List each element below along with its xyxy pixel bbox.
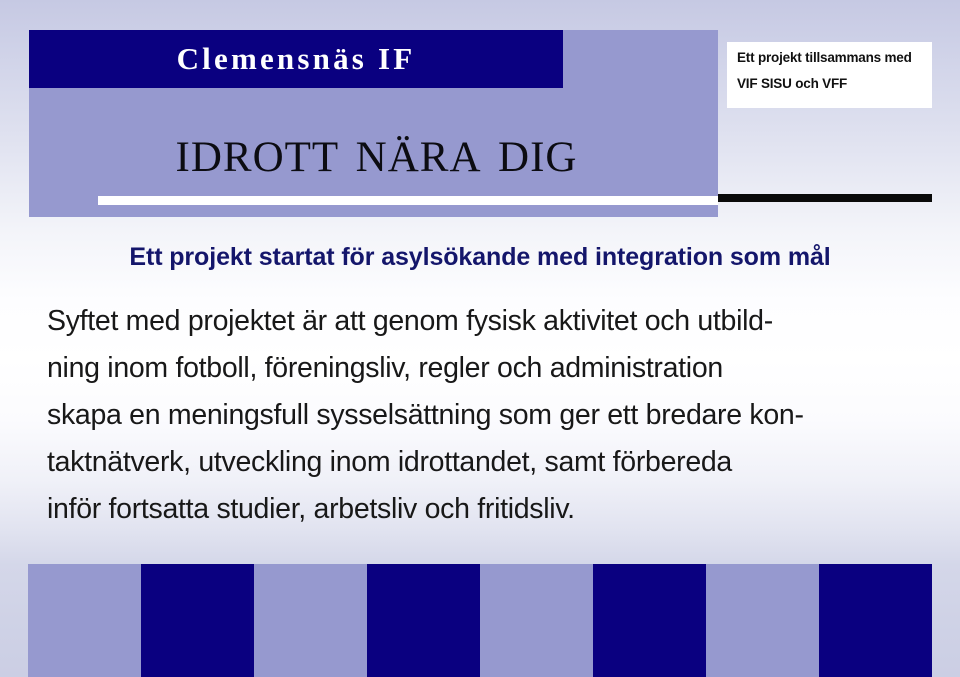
stripe-5: [480, 564, 593, 677]
partner-credit-box: Ett projekt tillsammans med VIF SISU och…: [727, 42, 932, 108]
body-line: skapa en meningsfull sysselsättning som …: [47, 392, 937, 439]
title-underline-black: [718, 194, 932, 202]
poster-canvas: Clemensnäs IF Idrott Nära Dig Ett projek…: [0, 0, 960, 677]
partner-line-2: VIF SISU och VFF: [737, 76, 932, 91]
body-copy: Syftet med projektet är att genom fysisk…: [47, 298, 937, 533]
club-name-text: Clemensnäs IF: [29, 30, 563, 88]
stripe-3: [254, 564, 367, 677]
stripe-4: [367, 564, 480, 677]
stripe-8: [819, 564, 932, 677]
body-line: inför fortsatta studier, arbetsliv och f…: [47, 486, 937, 533]
stripe-1: [28, 564, 141, 677]
club-name-bar: Clemensnäs IF: [29, 30, 563, 88]
stripe-6: [593, 564, 706, 677]
body-line: Syftet med projektet är att genom fysisk…: [47, 298, 937, 345]
body-line: ning inom fotboll, föreningsliv, regler …: [47, 345, 937, 392]
stripe-7: [706, 564, 819, 677]
page-title: Idrott Nära Dig: [29, 110, 718, 192]
body-line: taktnätverk, utveckling inom idrottandet…: [47, 439, 937, 486]
partner-line-1: Ett projekt tillsammans med: [737, 50, 932, 65]
stripe-band: [28, 564, 932, 677]
subtitle: Ett projekt startat för asylsökande med …: [0, 243, 960, 272]
title-underline-white: [98, 196, 718, 205]
stripe-2: [141, 564, 254, 677]
